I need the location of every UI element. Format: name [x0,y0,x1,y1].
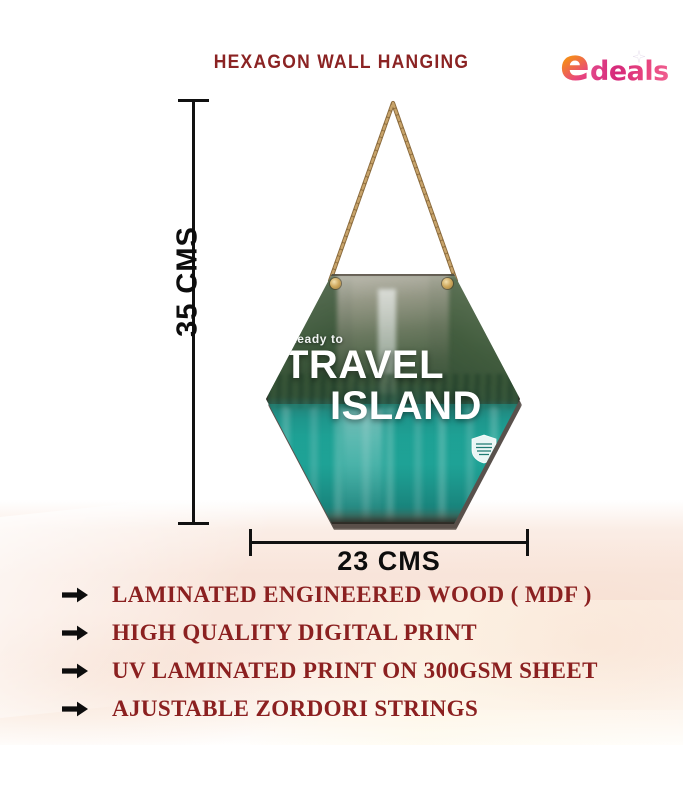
width-dimension-label: 23 CMS [250,546,528,577]
list-item: HIGH QUALITY DIGITAL PRINT [0,614,683,652]
feature-label: AJUSTABLE ZORDORI STRINGS [112,696,478,722]
feature-list: LAMINATED ENGINEERED WOOD ( MDF ) HIGH Q… [0,576,683,728]
sparkle-icon [632,50,646,64]
arrow-right-icon [62,587,88,603]
list-item: UV LAMINATED PRINT ON 300GSM SHEET [0,652,683,690]
height-dimension-cap-bottom [178,522,209,525]
list-item: LAMINATED ENGINEERED WOOD ( MDF ) [0,576,683,614]
arrow-right-icon [62,663,88,679]
brand-logo[interactable]: e deals [560,42,672,88]
arrow-right-icon [62,625,88,641]
grommet-eyelet-icon-left [330,278,341,289]
logo-e-mark: e [560,44,590,88]
product-infographic: HEXAGON WALL HANGING e deals 35 CMS 23 C… [0,0,683,800]
feature-label: HIGH QUALITY DIGITAL PRINT [112,620,477,646]
hexagon-wall-hanging[interactable]: Ready to TRAVEL ISLAND [266,274,520,530]
hexagon-mdf-edge [266,274,520,524]
list-item: AJUSTABLE ZORDORI STRINGS [0,690,683,728]
arrow-right-icon [62,701,88,717]
width-dimension-line [250,541,528,544]
logo-wordmark: deals [590,58,669,85]
twisted-rope-icon [280,95,510,295]
grommet-eyelet-icon-right [442,278,453,289]
background-bottom-white [0,745,683,800]
feature-label: UV LAMINATED PRINT ON 300GSM SHEET [112,658,598,684]
height-dimension-label: 35 CMS [172,212,205,352]
feature-label: LAMINATED ENGINEERED WOOD ( MDF ) [112,582,592,608]
